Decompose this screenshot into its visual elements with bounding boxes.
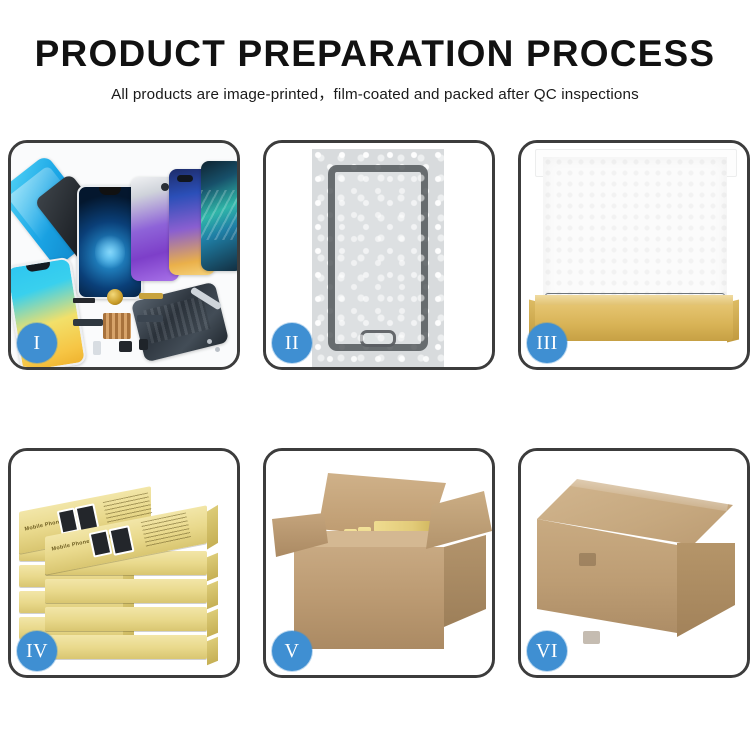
teal-phone-display [201,161,237,271]
button-part-b [139,339,148,350]
step-badge-1: I [17,323,57,363]
flex-cable-part-a [73,319,103,326]
button-part-a [93,341,101,355]
process-step-panel-1: I [8,140,240,370]
stacked-box [45,607,207,631]
page-title: PRODUCT PREPARATION PROCESS [0,34,750,73]
screw-part-b [215,347,220,352]
process-step-panel-6: VI [518,448,750,678]
flex-cable-part-c [139,293,163,299]
product-preparation-infographic: PRODUCT PREPARATION PROCESS All products… [0,0,750,750]
page-subtitle: All products are image-printed，film-coat… [0,82,750,104]
logic-board-part [103,313,131,339]
carton-side-face [444,535,486,627]
step-badge-4: IV [17,631,57,671]
carton-handle-slot-lower [583,631,600,644]
connector-strip-part [73,298,95,303]
flex-cable-part-b [137,315,163,322]
step-badge-3: III [527,323,567,363]
step-badge-6: VI [527,631,567,671]
stacked-box [45,579,207,603]
process-step-panel-3: III [518,140,750,370]
step-badge-5: V [272,631,312,671]
bubble-wrap-overlay [312,149,444,367]
white-foam-insert [543,157,727,307]
speaker-part [119,341,132,352]
sealed-carton-side [677,543,735,637]
carton-front-face [294,547,444,649]
header: PRODUCT PREPARATION PROCESS All products… [0,34,750,104]
stacked-box [45,635,207,659]
process-step-panel-4: Mobile Phone Spare Parts Mobile Phone Sp… [8,448,240,678]
process-step-grid: I II III [8,140,742,678]
camera-part [107,289,123,305]
process-step-panel-2: II [263,140,495,370]
bubble-wrap-sheet [312,149,444,367]
box-stack: Mobile Phone Spare Parts Mobile Phone Sp… [19,465,235,665]
process-step-panel-5: V [263,448,495,678]
step-badge-2: II [272,323,312,363]
screw-part-a [207,339,212,344]
inner-box-in-carton [374,521,438,532]
carton-handle-slot-upper [579,553,596,566]
